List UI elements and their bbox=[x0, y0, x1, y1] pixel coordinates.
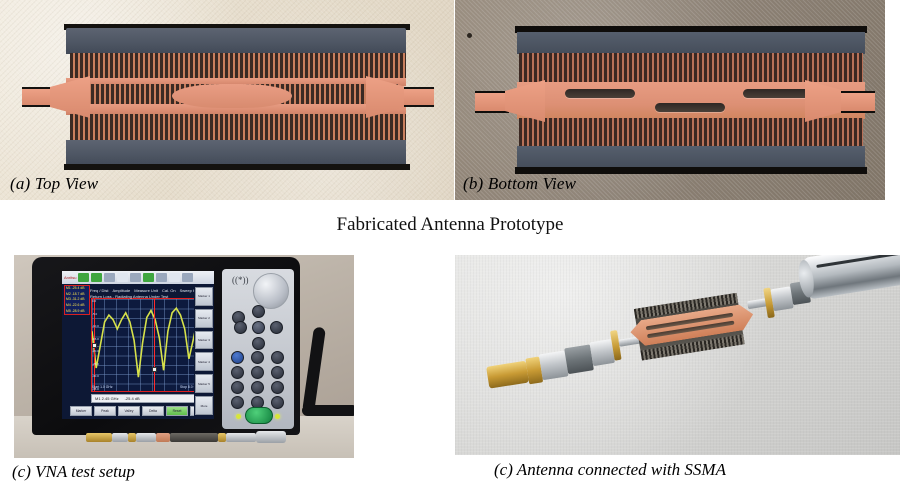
s11-trace bbox=[92, 299, 210, 391]
asm-antenna-substrate bbox=[170, 433, 218, 442]
key-system[interactable] bbox=[271, 381, 284, 394]
key-cal[interactable] bbox=[251, 381, 264, 394]
cable-segment-horizontal bbox=[302, 405, 354, 416]
vector-network-analyzer: Anritsu Freq / Dist Amplitude Measure Un… bbox=[32, 257, 300, 435]
corrugation-row-bottom-b bbox=[519, 118, 863, 148]
key-sweep[interactable] bbox=[251, 366, 264, 379]
toolbar-icon-hold[interactable] bbox=[91, 273, 102, 282]
softkey-reset[interactable]: Reset bbox=[166, 406, 188, 416]
toolbar-icon-sweep[interactable] bbox=[182, 273, 193, 282]
antenna-bottom-view bbox=[475, 26, 875, 174]
sidekey-marker-2[interactable]: Marker 2 bbox=[195, 309, 213, 328]
corrugation-row-top-b bbox=[519, 53, 863, 83]
key-enter-2[interactable] bbox=[271, 396, 284, 409]
key-file[interactable] bbox=[231, 396, 244, 409]
feed-line-left-b bbox=[475, 91, 509, 113]
key-arrow-left[interactable] bbox=[234, 321, 247, 334]
key-amplitude[interactable] bbox=[271, 351, 284, 364]
feed-line-left bbox=[22, 87, 52, 107]
key-arrow-down[interactable] bbox=[252, 337, 265, 350]
marker-line-m1[interactable] bbox=[154, 299, 155, 391]
softkey-delta[interactable]: Delta bbox=[142, 406, 164, 416]
menu-item-cal[interactable]: Cal. On bbox=[162, 288, 176, 293]
wifi-icon: ((*)) bbox=[232, 275, 249, 285]
toolbar-icon-home[interactable] bbox=[117, 273, 128, 282]
photo-antenna-with-ssma bbox=[455, 255, 900, 455]
power-button[interactable] bbox=[245, 407, 273, 424]
softkey-valley[interactable]: Valley bbox=[118, 406, 140, 416]
menu-item-amplitude[interactable]: Amplitude bbox=[112, 288, 130, 293]
y-label-6: -30.0 bbox=[92, 374, 102, 378]
menu-item-measure[interactable]: Measure Unit bbox=[134, 288, 158, 293]
antenna-assembly-on-table bbox=[86, 430, 286, 446]
sidekey-marker-1[interactable]: Marker 1 bbox=[195, 287, 213, 306]
toolbar-icon-save[interactable] bbox=[130, 273, 141, 282]
taper-left-b bbox=[505, 80, 545, 122]
substrate-edge-bottom bbox=[64, 164, 410, 170]
y-label-4: -20.0 bbox=[92, 349, 102, 353]
marker-dot-m1[interactable] bbox=[152, 367, 157, 372]
substrate-slab-bottom-b bbox=[517, 146, 865, 168]
sma-connector-gold bbox=[486, 361, 529, 389]
ground-slot-2 bbox=[655, 103, 725, 112]
cable-segment-vertical bbox=[302, 327, 326, 414]
figure-title: Fabricated Antenna Prototype bbox=[0, 214, 900, 236]
asm-adapter-3 bbox=[226, 433, 256, 442]
key-arrow-right[interactable] bbox=[270, 321, 283, 334]
readout-value: -25.4 dB bbox=[125, 396, 140, 401]
substrate-slab-top bbox=[66, 28, 406, 54]
substrate-edge-bottom-b bbox=[515, 167, 867, 174]
vna-marker-legend: M1 -25.4 dB M2 -18.7 dB M3 -31.2 dB M4 -… bbox=[64, 285, 90, 315]
photo-top-view: (a) Top View bbox=[0, 0, 454, 200]
chart-y-axis-labels: 0.0 -5.0 -10.0 -15.0 -20.0 -25.0 -30.0 -… bbox=[92, 299, 102, 391]
adapter-hex-2 bbox=[564, 344, 594, 374]
legend-line-1: M1 -25.4 dB bbox=[66, 287, 88, 290]
caption-panel-c: (c) VNA test setup bbox=[12, 462, 135, 482]
y-label-0: 0.0 bbox=[92, 299, 102, 303]
asm-flange-1 bbox=[128, 433, 136, 442]
toolbar-icon-limit[interactable] bbox=[169, 273, 180, 282]
asm-feed bbox=[156, 433, 170, 442]
sidekey-marker-4[interactable]: Marker 4 bbox=[195, 352, 213, 371]
substrate-slab-top-b bbox=[517, 32, 865, 54]
toolbar-icon-cal[interactable] bbox=[143, 273, 154, 282]
key-marker[interactable] bbox=[271, 366, 284, 379]
antenna-top-view bbox=[22, 24, 434, 170]
return-loss-chart bbox=[91, 298, 211, 392]
vna-readout-bar: M1 2.45 GHz -25.4 dB bbox=[91, 394, 211, 403]
vna-keypad[interactable]: ((*)) bbox=[222, 269, 294, 429]
legend-line-5: M5 -28.9 dB bbox=[66, 310, 88, 313]
feed-line-right bbox=[404, 87, 434, 107]
y-label-1: -5.0 bbox=[92, 312, 102, 316]
y-label-7: -35.0 bbox=[92, 387, 102, 391]
key-limit[interactable] bbox=[231, 381, 244, 394]
sidekey-more[interactable]: More bbox=[195, 396, 213, 415]
y-label-3: -15.0 bbox=[92, 337, 102, 341]
dust-speck bbox=[467, 33, 472, 38]
coaxial-cable bbox=[302, 327, 354, 427]
photo-bottom-view: (b) Bottom View bbox=[455, 0, 885, 200]
menu-item-freq[interactable]: Freq / Dist bbox=[90, 288, 108, 293]
key-enter[interactable] bbox=[252, 321, 265, 334]
asm-adapter-1 bbox=[112, 433, 128, 442]
feed-line-right-b bbox=[841, 91, 875, 113]
key-shift[interactable] bbox=[231, 351, 244, 364]
cylinder-slot bbox=[816, 255, 900, 268]
sidekey-marker-3[interactable]: Marker 3 bbox=[195, 331, 213, 350]
adapter-hex-1 bbox=[539, 350, 569, 380]
radiating-slot-bulge bbox=[172, 84, 292, 108]
corrugation-row-upper bbox=[70, 53, 406, 79]
vna-brand-label: Anritsu bbox=[64, 275, 76, 280]
led-indicator-right bbox=[275, 414, 280, 419]
asm-chrome-cylinder bbox=[256, 431, 286, 443]
asm-sma-connector bbox=[86, 433, 112, 442]
caption-panel-b: (b) Bottom View bbox=[463, 174, 576, 194]
softkey-marker[interactable]: Marker bbox=[70, 406, 92, 416]
y-label-2: -10.0 bbox=[92, 324, 102, 328]
legend-line-4: M4 -22.6 dB bbox=[66, 304, 88, 307]
vna-softkey-row[interactable]: Marker Peak Valley Delta Reset Back bbox=[70, 406, 212, 416]
softkey-peak[interactable]: Peak bbox=[94, 406, 116, 416]
vna-toolbar[interactable]: Anritsu bbox=[62, 271, 214, 284]
vna-measurement-title: Return Loss - Radiating Antenna Under Te… bbox=[90, 294, 168, 299]
y-label-5: -25.0 bbox=[92, 362, 102, 366]
led-indicator-left bbox=[236, 414, 241, 419]
vna-screen: Anritsu Freq / Dist Amplitude Measure Un… bbox=[62, 271, 214, 419]
taper-left bbox=[50, 76, 90, 118]
toolbar-icon-run[interactable] bbox=[78, 273, 89, 282]
vna-sidekey-column[interactable]: Marker 1 Marker 2 Marker 3 Marker 4 Mark… bbox=[194, 285, 214, 417]
caption-panel-a: (a) Top View bbox=[10, 174, 98, 194]
ground-slot-3 bbox=[743, 89, 813, 98]
rotary-knob[interactable] bbox=[253, 273, 289, 309]
toolbar-icon-trace[interactable] bbox=[104, 273, 115, 282]
legend-line-3: M3 -31.2 dB bbox=[66, 298, 88, 301]
ground-slot-1 bbox=[565, 89, 635, 98]
key-arrow-up[interactable] bbox=[252, 305, 265, 318]
key-measure[interactable] bbox=[231, 366, 244, 379]
sidekey-marker-5[interactable]: Marker 5 bbox=[195, 374, 213, 393]
corrugation-row-lower bbox=[70, 114, 406, 140]
caption-panel-d: (c) Antenna connected with SSMA bbox=[494, 460, 726, 480]
photo-vna-test-setup: Anritsu Freq / Dist Amplitude Measure Un… bbox=[14, 255, 354, 458]
asm-flange-2 bbox=[218, 433, 226, 442]
figure-fabricated-antenna-prototype: (a) Top View (b) Bottom View Fabricated … bbox=[0, 0, 900, 491]
asm-adapter-2 bbox=[136, 433, 156, 442]
key-freq[interactable] bbox=[251, 351, 264, 364]
substrate-slab-bottom bbox=[66, 140, 406, 166]
toolbar-icon-marker[interactable] bbox=[156, 273, 167, 282]
legend-line-2: M2 -18.7 dB bbox=[66, 293, 88, 296]
readout-marker-label: M1 2.45 GHz bbox=[95, 396, 119, 401]
